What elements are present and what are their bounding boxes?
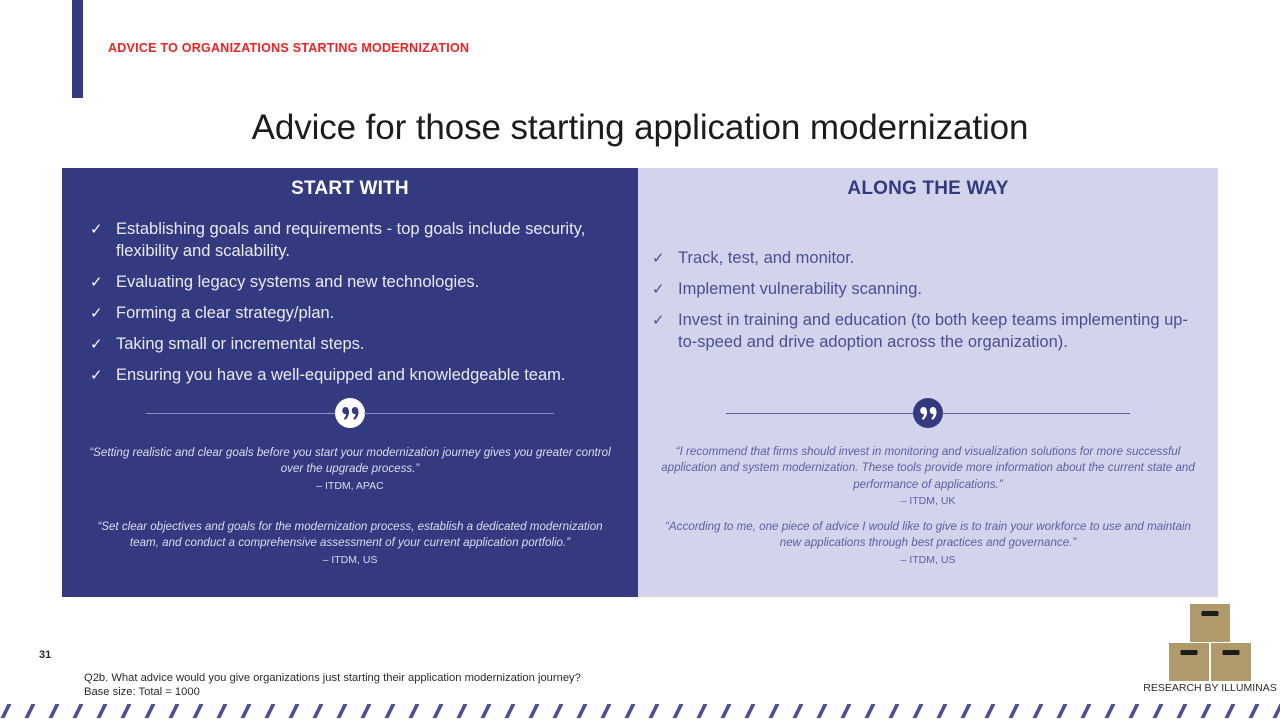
list-item-label: Implement vulnerability scanning. <box>678 279 1194 301</box>
slash-mark-icon <box>1009 704 1020 718</box>
list-item-label: Ensuring you have a well-equipped and kn… <box>116 365 620 387</box>
slash-mark-icon <box>49 704 60 718</box>
slash-mark-icon <box>1 704 12 718</box>
slash-mark-icon <box>625 704 636 718</box>
slash-mark-icon <box>1201 704 1212 718</box>
quote-text: “I recommend that firms should invest in… <box>661 445 1195 491</box>
list-item-label: Taking small or incremental steps. <box>116 334 620 356</box>
slash-mark-icon <box>97 704 108 718</box>
list-item: ✓ Ensuring you have a well-equipped and … <box>90 365 620 387</box>
slash-mark-icon <box>481 704 492 718</box>
slash-mark-icon <box>313 704 324 718</box>
check-icon: ✓ <box>90 365 116 387</box>
panel-heading-along-the-way: ALONG THE WAY <box>638 168 1218 200</box>
slash-mark-icon <box>1249 704 1260 718</box>
quote-2: “Set clear objectives and goals for the … <box>62 519 638 568</box>
box-handle-icon <box>1223 650 1240 655</box>
slash-mark-icon <box>529 704 540 718</box>
slash-mark-icon <box>1033 704 1044 718</box>
slash-mark-icon <box>697 704 708 718</box>
slash-mark-icon <box>289 704 300 718</box>
slash-mark-icon <box>649 704 660 718</box>
quote-attribution: – ITDM, US <box>660 553 1196 568</box>
box-icon <box>1190 604 1230 642</box>
panel-heading-start-with: START WITH <box>62 168 638 200</box>
check-icon: ✓ <box>652 310 678 332</box>
logo-caption: RESEARCH BY ILLUMINAS <box>1138 682 1280 694</box>
list-item-label: Forming a clear strategy/plan. <box>116 303 620 325</box>
quote-text: “According to me, one piece of advice I … <box>665 520 1191 549</box>
advice-panels: START WITH ✓ Establishing goals and requ… <box>62 168 1218 597</box>
slash-mark-icon <box>793 704 804 718</box>
quote-attribution: – ITDM, UK <box>660 494 1196 509</box>
section-eyebrow-label: ADVICE TO ORGANIZATIONS STARTING MODERNI… <box>108 41 469 55</box>
divider-rule <box>364 413 554 414</box>
check-icon: ✓ <box>90 334 116 356</box>
footnote: Q2b. What advice would you give organiza… <box>84 671 581 700</box>
slash-mark-icon <box>841 704 852 718</box>
quote-1: “I recommend that firms should invest in… <box>638 444 1218 509</box>
slash-mark-icon <box>601 704 612 718</box>
bottom-slash-decoration <box>0 700 1280 720</box>
slash-mark-icon <box>865 704 876 718</box>
slash-mark-icon <box>1225 704 1236 718</box>
slash-mark-icon <box>1273 704 1280 718</box>
box-icon <box>1169 643 1209 681</box>
slash-mark-icon <box>1153 704 1164 718</box>
list-item: ✓ Evaluating legacy systems and new tech… <box>90 272 620 294</box>
survey-question-label: Q2b. What advice would you give organiza… <box>84 671 581 685</box>
slash-mark-icon <box>409 704 420 718</box>
slash-mark-icon <box>553 704 564 718</box>
slash-mark-icon <box>361 704 372 718</box>
slash-mark-icon <box>1105 704 1116 718</box>
panel-along-the-way: ALONG THE WAY ✓ Track, test, and monitor… <box>638 168 1218 597</box>
slash-mark-icon <box>889 704 900 718</box>
box-stack-icon <box>1160 604 1260 678</box>
header-accent-bar <box>72 0 83 98</box>
slash-mark-icon <box>769 704 780 718</box>
slash-mark-icon <box>1129 704 1140 718</box>
list-item: ✓ Track, test, and monitor. <box>652 248 1194 270</box>
list-item-label: Track, test, and monitor. <box>678 248 1194 270</box>
slash-mark-icon <box>25 704 36 718</box>
slash-mark-icon <box>745 704 756 718</box>
quote-attribution: – ITDM, APAC <box>84 479 616 494</box>
slash-mark-icon <box>217 704 228 718</box>
page-number: 31 <box>39 649 51 661</box>
divider-rule <box>942 413 1130 414</box>
quote-1: “Setting realistic and clear goals befor… <box>62 445 638 494</box>
quote-2: “According to me, one piece of advice I … <box>638 519 1218 568</box>
advice-list-start-with: ✓ Establishing goals and requirements - … <box>90 219 620 387</box>
quote-text: “Setting realistic and clear goals befor… <box>89 446 610 475</box>
slash-mark-icon <box>385 704 396 718</box>
slash-mark-icon <box>961 704 972 718</box>
check-icon: ✓ <box>90 303 116 325</box>
page-title: Advice for those starting application mo… <box>0 108 1280 148</box>
box-handle-icon <box>1202 611 1219 616</box>
slash-mark-icon <box>193 704 204 718</box>
box-handle-icon <box>1181 650 1198 655</box>
slash-mark-icon <box>145 704 156 718</box>
slash-mark-icon <box>505 704 516 718</box>
list-item-label: Establishing goals and requirements - to… <box>116 219 620 263</box>
slash-mark-icon <box>1177 704 1188 718</box>
slash-mark-icon <box>985 704 996 718</box>
slash-mark-icon <box>721 704 732 718</box>
slash-mark-icon <box>1081 704 1092 718</box>
slash-mark-icon <box>937 704 948 718</box>
slash-mark-icon <box>913 704 924 718</box>
quote-divider-right <box>638 398 1218 428</box>
illuminas-logo: RESEARCH BY ILLUMINAS <box>1160 604 1260 700</box>
list-item: ✓ Taking small or incremental steps. <box>90 334 620 356</box>
slash-mark-icon <box>457 704 468 718</box>
box-icon <box>1211 643 1251 681</box>
slash-mark-icon <box>433 704 444 718</box>
slash-mark-icon <box>73 704 84 718</box>
slash-mark-icon <box>337 704 348 718</box>
slash-mark-icon <box>169 704 180 718</box>
advice-list-along-the-way: ✓ Track, test, and monitor. ✓ Implement … <box>652 248 1194 354</box>
check-icon: ✓ <box>652 279 678 301</box>
slash-mark-icon <box>1057 704 1068 718</box>
quote-attribution: – ITDM, US <box>84 553 616 568</box>
quote-divider-left <box>62 398 638 428</box>
check-icon: ✓ <box>90 219 116 241</box>
panel-start-with: START WITH ✓ Establishing goals and requ… <box>62 168 638 597</box>
base-size-label: Base size: Total = 1000 <box>84 685 581 699</box>
slash-mark-icon <box>673 704 684 718</box>
list-item-label: Invest in training and education (to bot… <box>678 310 1194 354</box>
slash-mark-icon <box>265 704 276 718</box>
list-item: ✓ Forming a clear strategy/plan. <box>90 303 620 325</box>
check-icon: ✓ <box>652 248 678 270</box>
slash-mark-icon <box>241 704 252 718</box>
slash-mark-icon <box>817 704 828 718</box>
slash-mark-icon <box>121 704 132 718</box>
check-icon: ✓ <box>90 272 116 294</box>
list-item: ✓ Establishing goals and requirements - … <box>90 219 620 263</box>
quote-text: “Set clear objectives and goals for the … <box>97 520 602 549</box>
quote-mark-icon <box>335 398 365 428</box>
list-item: ✓ Invest in training and education (to b… <box>652 310 1194 354</box>
list-item-label: Evaluating legacy systems and new techno… <box>116 272 620 294</box>
slash-mark-icon <box>577 704 588 718</box>
list-item: ✓ Implement vulnerability scanning. <box>652 279 1194 301</box>
quote-mark-icon <box>913 398 943 428</box>
divider-rule <box>726 413 914 414</box>
divider-rule <box>146 413 336 414</box>
